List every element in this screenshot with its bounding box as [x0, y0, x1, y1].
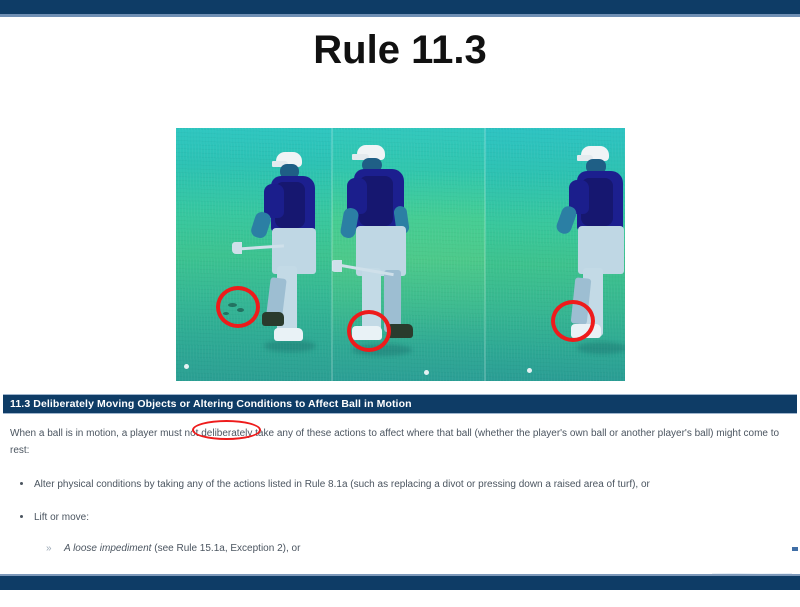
photo-panel-3 — [485, 128, 625, 381]
bullet-text: Lift or move: — [34, 512, 89, 523]
bullet-dot-icon — [20, 515, 23, 518]
rule-bullet-list: Alter physical conditions by taking any … — [10, 477, 790, 589]
rule-intro-highlight: deliberately — [201, 428, 252, 439]
sub-item-rest: (see Rule 15.1a, Exception 2), or — [154, 543, 300, 554]
top-navy-bar — [0, 0, 800, 14]
list-item: » A loose impediment (see Rule 15.1a, Ex… — [34, 541, 790, 556]
rule-header-label: 11.3 Deliberately Moving Objects or Alte… — [10, 398, 412, 410]
highlighted-word-wrapper: deliberately — [201, 425, 252, 442]
bottom-navy-bar — [0, 576, 800, 590]
double-chevron-icon: » — [46, 541, 52, 556]
sub-item-italic: A loose impediment — [64, 543, 151, 554]
annotation-circle-3 — [551, 300, 595, 342]
photo-panel-2 — [332, 128, 485, 381]
bullet-dot-icon — [20, 482, 23, 485]
rule-intro-paragraph: When a ball is in motion, a player must … — [10, 425, 790, 459]
annotation-circle-1 — [216, 286, 260, 328]
slide-canvas: Rule 11.3 — [0, 0, 800, 590]
panel-seam-2 — [484, 128, 486, 381]
list-item: Alter physical conditions by taking any … — [10, 477, 790, 492]
corner-marker-icon — [792, 547, 798, 551]
page-title: Rule 11.3 — [0, 28, 800, 73]
top-hairline — [0, 14, 800, 17]
annotation-circle-2 — [347, 310, 391, 352]
bullet-text: Alter physical conditions by taking any … — [34, 479, 650, 490]
panel-seam-1 — [331, 128, 333, 381]
photo-panel-1 — [176, 128, 332, 381]
golf-sequence-photo — [176, 128, 625, 381]
rule-intro-before: When a ball is in motion, a player must … — [10, 428, 198, 439]
rule-header-bar: 11.3 Deliberately Moving Objects or Alte… — [3, 394, 797, 414]
